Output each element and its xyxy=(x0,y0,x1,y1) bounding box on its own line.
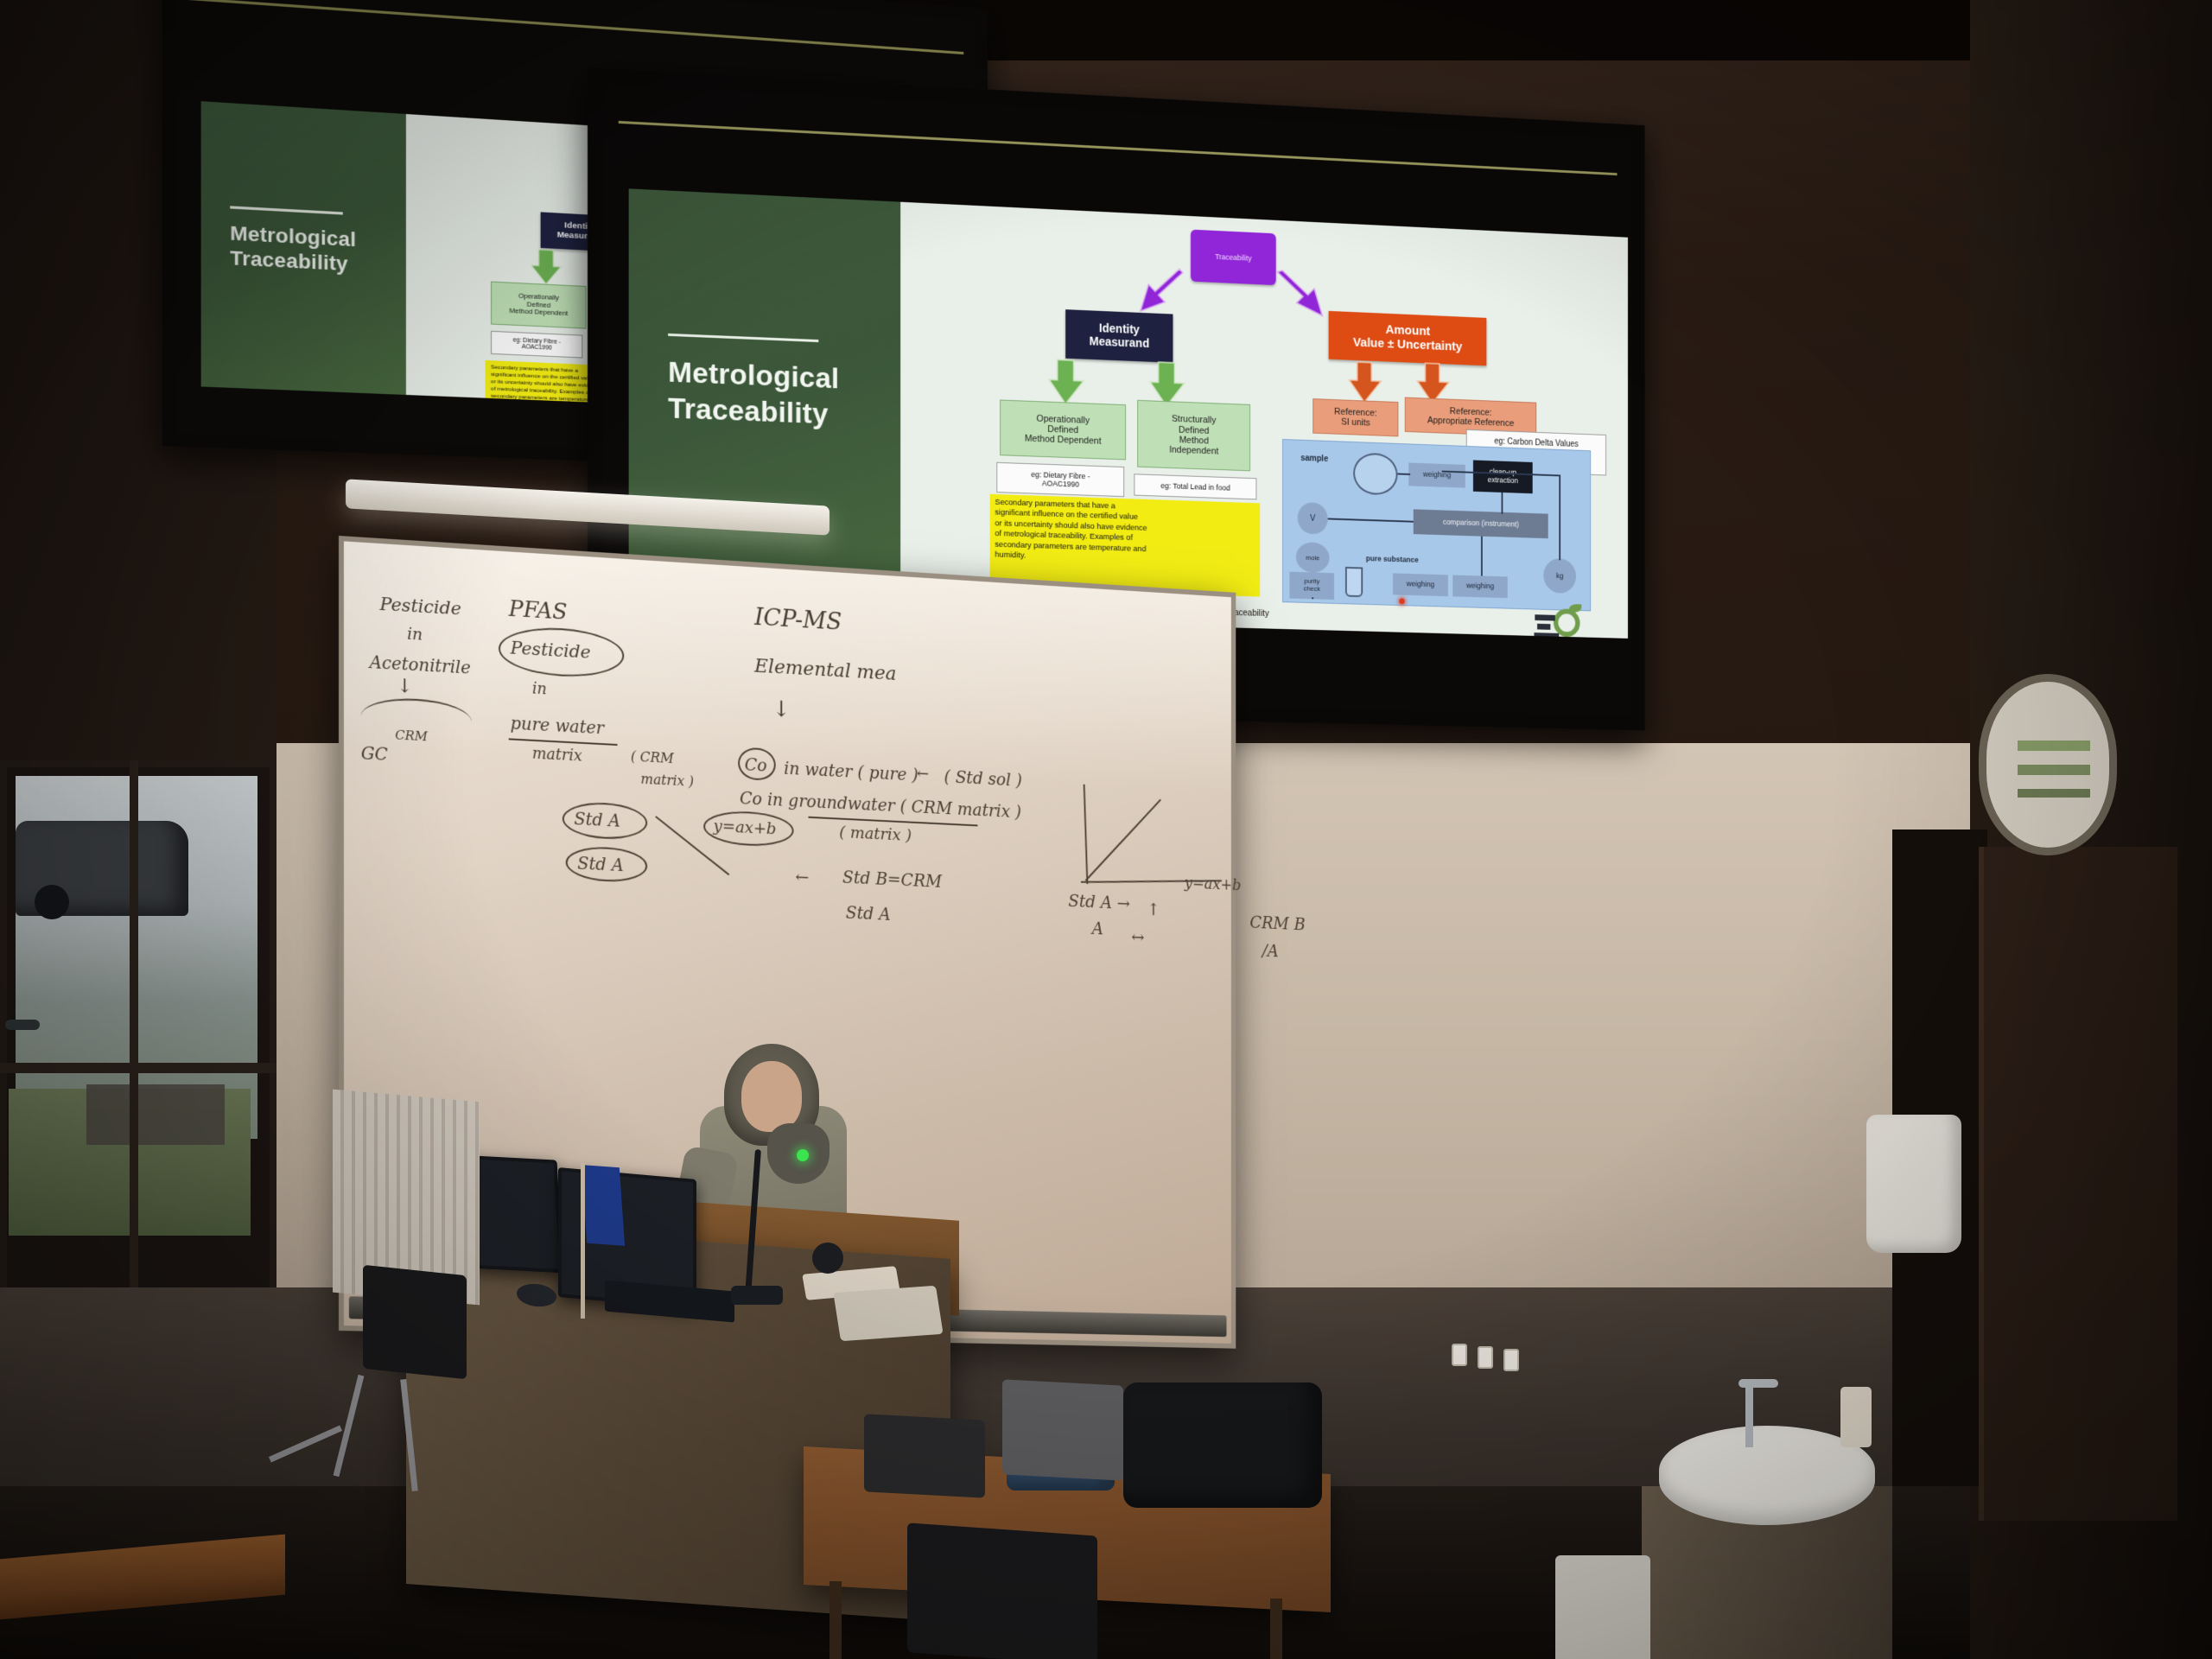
example-dietary-fibre: eg: Dietary Fibre - AOAC1990 xyxy=(996,462,1124,497)
connector xyxy=(1397,474,1410,475)
note-crm-matrix: matrix ) xyxy=(640,771,694,790)
desk-flag xyxy=(582,1165,625,1246)
logo-bar xyxy=(1534,632,1559,639)
screen-trim-line xyxy=(189,0,963,54)
note-y-ax-b-2: y=ax+b xyxy=(1185,874,1241,894)
flask-icon xyxy=(1345,567,1363,597)
arrow-left-glyph: ← xyxy=(917,765,929,783)
clock-bar xyxy=(2018,765,2090,775)
node-cleanup-extraction: clean-up extraction xyxy=(1473,460,1533,493)
connector xyxy=(1328,518,1414,522)
arrow-left-glyph-2: ← xyxy=(795,867,809,887)
parked-car xyxy=(16,821,188,916)
node-operationally-defined: Operationally Defined Method Dependent xyxy=(491,282,587,329)
connector xyxy=(1559,474,1560,560)
arrow-green-left xyxy=(1046,358,1090,407)
node-comparison-instrument: comparison (instrument) xyxy=(1414,509,1548,538)
arrow-down-glyph-2: ↓ xyxy=(772,696,791,722)
note-matrix: matrix xyxy=(532,745,582,766)
example-dietary-fibre: eg: Dietary Fibre - AOAC1990 xyxy=(491,331,582,359)
chair-front[interactable] xyxy=(907,1522,1097,1659)
screen-trim-line xyxy=(619,121,1618,175)
node-amount: Amount Value ± Uncertainty xyxy=(1329,311,1487,365)
wall-socket[interactable] xyxy=(1452,1344,1467,1366)
arrow-green-left xyxy=(530,247,566,287)
note-icp-ms: ICP-MS xyxy=(754,602,842,635)
note-std-a-3: Std A xyxy=(846,902,891,925)
label-pure-substance: pure substance xyxy=(1366,554,1419,563)
soap-bottle[interactable] xyxy=(1840,1387,1872,1447)
blue-process-diagram: sample weighing clean-up extraction comp… xyxy=(1282,439,1591,611)
wall-clock xyxy=(1979,674,2117,855)
office-chair-back[interactable] xyxy=(363,1265,467,1380)
node-reference-si: Reference: SI units xyxy=(1313,398,1398,436)
lecture-hall-photo: Metrological Traceability Traceability I… xyxy=(0,0,2212,1659)
note-in-2: in xyxy=(532,680,547,699)
node-traceability: Traceability xyxy=(1191,230,1276,286)
waste-bin[interactable] xyxy=(1555,1555,1650,1659)
olive-apple-logo xyxy=(1534,603,1588,639)
equipment-case xyxy=(864,1414,985,1497)
connector xyxy=(1481,537,1483,576)
label-sample: sample xyxy=(1300,454,1328,464)
arrow-down-glyph: ↓ xyxy=(397,676,412,698)
node-operationally-defined: Operationally Defined Method Dependent xyxy=(1000,400,1126,461)
presenter-face xyxy=(741,1061,802,1132)
clock-bar xyxy=(2018,741,2090,751)
note-crm-open: ( CRM xyxy=(631,748,674,766)
connector xyxy=(1312,597,1313,599)
paper-stack xyxy=(833,1286,943,1341)
wall-socket[interactable] xyxy=(1503,1349,1519,1371)
note-ellipse-stda-2 xyxy=(566,845,647,883)
chair-back-rest[interactable] xyxy=(1002,1379,1123,1480)
note-co-groundwater: Co in groundwater ( CRM matrix ) xyxy=(740,788,1021,823)
note-ellipse-stda-1 xyxy=(563,801,647,841)
door[interactable] xyxy=(1979,847,2177,1521)
node-weighing-top: weighing xyxy=(1408,463,1465,488)
note-ellipse-yaxb xyxy=(703,810,793,848)
outdoor-bench xyxy=(86,1084,225,1145)
faucet[interactable] xyxy=(1745,1382,1753,1447)
note-std-a-arrow: Std A → xyxy=(1068,891,1130,913)
camera-lens xyxy=(812,1243,843,1274)
node-mole: mole xyxy=(1296,542,1330,573)
logo-bar xyxy=(1535,614,1554,620)
arrow-purple-right xyxy=(1271,269,1332,327)
sample-molecule-icon xyxy=(1353,453,1397,496)
node-weighing-a: weighing xyxy=(1393,573,1448,596)
clock-bar xyxy=(2018,789,2090,798)
note-in: in xyxy=(407,625,423,645)
desk-flag-pole xyxy=(581,1163,585,1319)
node-purity-check: purity check xyxy=(1289,572,1334,600)
faucet-spout xyxy=(1738,1379,1778,1388)
arrow-orange-left xyxy=(1348,360,1386,405)
logo-leaf xyxy=(1569,604,1581,613)
node-volume: V xyxy=(1298,502,1328,535)
soap-dispenser[interactable] xyxy=(1866,1115,1961,1253)
red-indicator-dot xyxy=(1399,598,1404,604)
note-std-sol: ( Std sol ) xyxy=(944,766,1022,791)
arrow-up-glyph: ↑ xyxy=(1147,899,1160,920)
note-trend-line xyxy=(1085,799,1161,881)
presenter-badge-light xyxy=(797,1149,809,1161)
monitor-screen xyxy=(466,1159,559,1269)
microphone-base xyxy=(731,1286,783,1305)
black-bag xyxy=(1123,1382,1322,1508)
arrow-purple-left xyxy=(1133,265,1190,320)
note-crm-b: CRM B xyxy=(1249,912,1305,935)
node-kg: kg xyxy=(1543,558,1576,594)
note-pfas: PFAS xyxy=(509,596,568,626)
window-mullion xyxy=(0,1063,276,1073)
node-weighing-b: weighing xyxy=(1452,575,1507,598)
note-std-b-crm: Std B=CRM xyxy=(842,867,942,892)
table-leg xyxy=(1270,1599,1282,1659)
door-handle[interactable] xyxy=(5,1020,40,1030)
note-matrix-2: ( matrix ) xyxy=(839,823,912,844)
window-mullion-vertical xyxy=(130,760,138,1296)
note-a: A xyxy=(1092,918,1103,939)
node-identity-measurand: Identity Measurand xyxy=(1065,309,1173,363)
note-gc: GC xyxy=(361,742,388,765)
node-structurally-defined: Structurally Defined Method Independent xyxy=(1137,400,1250,471)
logo-bar xyxy=(1537,624,1550,630)
connector xyxy=(1502,493,1503,514)
note-axis-vertical xyxy=(1084,785,1089,884)
example-total-lead: eg: Total Lead in food xyxy=(1134,474,1256,499)
wall-socket[interactable] xyxy=(1478,1346,1493,1369)
note-slash-a: /A xyxy=(1262,940,1279,961)
arrow-double-glyph: ↔ xyxy=(1131,926,1144,947)
table-leg xyxy=(829,1581,842,1659)
